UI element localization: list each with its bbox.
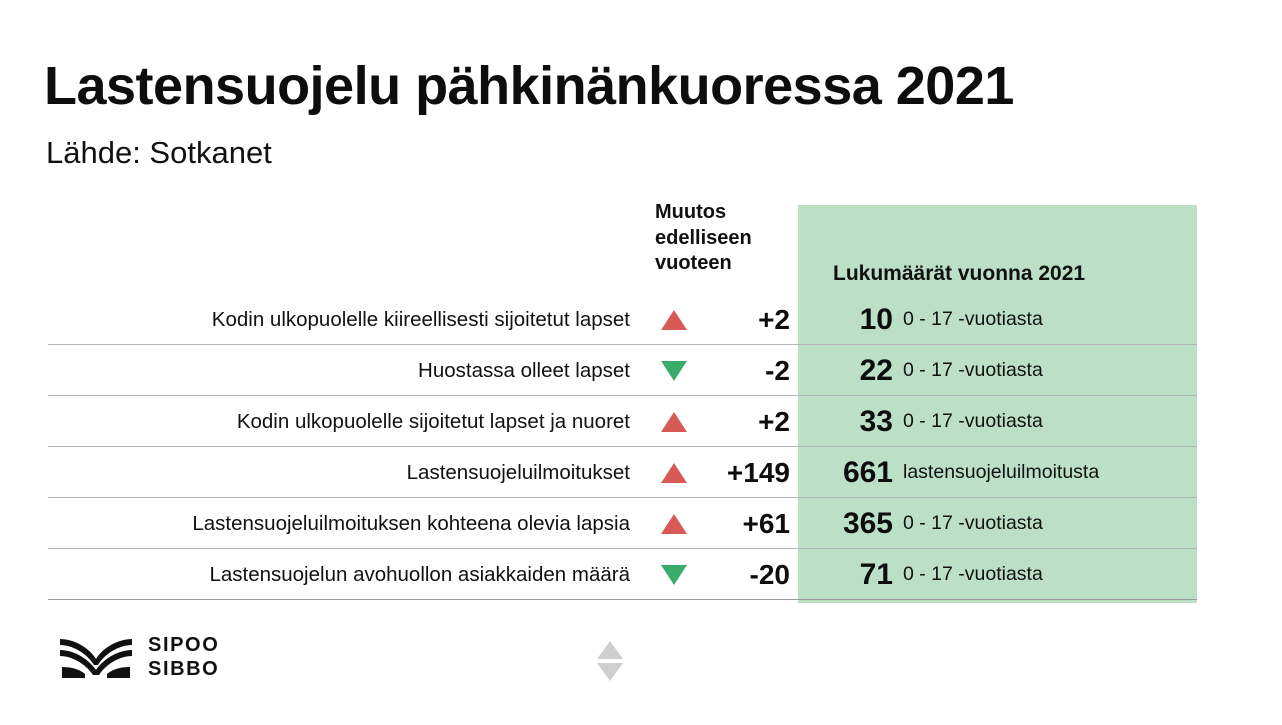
column-header-change-line3: vuoteen bbox=[655, 251, 795, 277]
row-unit-label: 0 - 17 -vuotiasta bbox=[903, 498, 1043, 549]
row-change-value: -20 bbox=[600, 549, 790, 600]
table-row: Lastensuojeluilmoitukset +149 661 lasten… bbox=[0, 447, 1282, 498]
logo-line-sipoo: SIPOO bbox=[148, 633, 219, 657]
row-label: Lastensuojelun avohuollon asiakkaiden mä… bbox=[60, 549, 630, 600]
scroll-updown-icon[interactable] bbox=[597, 641, 623, 681]
infographic-page: Lastensuojelu pähkinänkuoressa 2021 Lähd… bbox=[0, 0, 1282, 725]
row-label: Lastensuojeluilmoitukset bbox=[60, 447, 630, 498]
table-row: Lastensuojeluilmoituksen kohteena olevia… bbox=[0, 498, 1282, 549]
row-count-value: 33 bbox=[800, 396, 893, 447]
row-count-value: 365 bbox=[800, 498, 893, 549]
row-unit-label: 0 - 17 -vuotiasta bbox=[903, 396, 1043, 447]
column-header-change-line2: edelliseen bbox=[655, 226, 795, 252]
row-unit-label: 0 - 17 -vuotiasta bbox=[903, 345, 1043, 396]
row-label: Kodin ulkopuolelle sijoitetut lapset ja … bbox=[60, 396, 630, 447]
logo-line-sibbo: SIBBO bbox=[148, 657, 219, 681]
row-count-value: 22 bbox=[800, 345, 893, 396]
row-unit-label: lastensuojeluilmoitusta bbox=[903, 447, 1099, 498]
column-header-change: Muutos edelliseen vuoteen bbox=[655, 200, 795, 277]
sipoo-sibbo-logo: SIPOO SIBBO bbox=[58, 633, 219, 682]
table-row: Huostassa olleet lapset -2 22 0 - 17 -vu… bbox=[0, 345, 1282, 396]
row-change-value: -2 bbox=[600, 345, 790, 396]
row-divider bbox=[48, 599, 1197, 600]
table-row: Lastensuojelun avohuollon asiakkaiden mä… bbox=[0, 549, 1282, 600]
sipoo-wave-icon bbox=[58, 634, 134, 680]
row-change-value: +2 bbox=[600, 294, 790, 345]
row-change-value: +149 bbox=[600, 447, 790, 498]
row-count-value: 10 bbox=[800, 294, 893, 345]
row-change-value: +61 bbox=[600, 498, 790, 549]
column-header-change-line1: Muutos bbox=[655, 200, 795, 226]
page-title: Lastensuojelu pähkinänkuoressa 2021 bbox=[44, 58, 1014, 115]
row-label: Kodin ulkopuolelle kiireellisesti sijoit… bbox=[60, 294, 630, 345]
page-subtitle: Lähde: Sotkanet bbox=[46, 136, 272, 170]
logo-wordmark: SIPOO SIBBO bbox=[148, 633, 219, 682]
row-label: Lastensuojeluilmoituksen kohteena olevia… bbox=[60, 498, 630, 549]
table-row: Kodin ulkopuolelle kiireellisesti sijoit… bbox=[0, 294, 1282, 345]
row-unit-label: 0 - 17 -vuotiasta bbox=[903, 294, 1043, 345]
row-change-value: +2 bbox=[600, 396, 790, 447]
row-count-value: 661 bbox=[800, 447, 893, 498]
row-label: Huostassa olleet lapset bbox=[60, 345, 630, 396]
table-row: Kodin ulkopuolelle sijoitetut lapset ja … bbox=[0, 396, 1282, 447]
row-count-value: 71 bbox=[800, 549, 893, 600]
statistics-table: Kodin ulkopuolelle kiireellisesti sijoit… bbox=[0, 294, 1282, 600]
column-header-counts: Lukumäärät vuonna 2021 bbox=[833, 262, 1085, 286]
row-unit-label: 0 - 17 -vuotiasta bbox=[903, 549, 1043, 600]
